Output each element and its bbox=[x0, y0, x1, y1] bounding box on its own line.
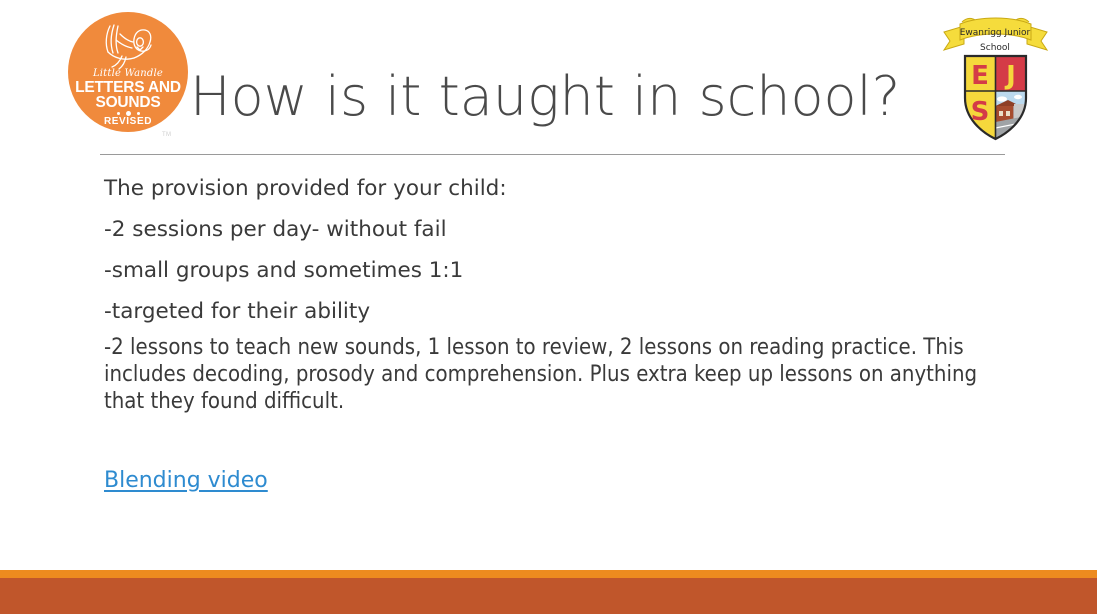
title-divider bbox=[100, 154, 1005, 155]
crest-letter-e: E bbox=[971, 61, 989, 91]
logo-main-line-1: LETTERS AND bbox=[68, 80, 188, 95]
body-line: -2 sessions per day- without fail bbox=[104, 209, 1004, 250]
logo-revised-text: REVISED bbox=[68, 116, 188, 127]
little-wandle-logo: Little Wandle LETTERS AND SOUNDS REVISED… bbox=[68, 12, 188, 138]
crest-banner-line-1: Ewanrigg Junior bbox=[960, 28, 1031, 38]
logo-trademark: TM bbox=[162, 132, 171, 138]
slide-canvas: Little Wandle LETTERS AND SOUNDS REVISED… bbox=[0, 0, 1097, 614]
body-text-block: The provision provided for your child: -… bbox=[104, 168, 1004, 332]
logo-main-line-2: SOUNDS bbox=[68, 95, 188, 110]
logo-script-text: Little Wandle bbox=[68, 69, 188, 79]
footer-accent-stripe bbox=[0, 570, 1097, 578]
crest-letter-s: S bbox=[971, 97, 990, 127]
crest-letter-j: J bbox=[1004, 61, 1016, 91]
blending-video-link[interactable]: Blending video bbox=[104, 468, 268, 493]
blending-video-link-wrapper: Blending video bbox=[104, 466, 268, 496]
body-line: The provision provided for your child: bbox=[104, 168, 1004, 209]
logo-main-text: LETTERS AND SOUNDS bbox=[68, 80, 188, 110]
slide-title: How is it taught in school? bbox=[190, 66, 970, 128]
footer-band bbox=[0, 578, 1097, 614]
body-line: -small groups and sometimes 1:1 bbox=[104, 250, 1004, 291]
crest-banner-line-2: School bbox=[980, 43, 1010, 53]
body-paragraph: -2 lessons to teach new sounds, 1 lesson… bbox=[104, 334, 994, 415]
owl-icon bbox=[90, 22, 166, 70]
body-line: -targeted for their ability bbox=[104, 291, 1004, 332]
